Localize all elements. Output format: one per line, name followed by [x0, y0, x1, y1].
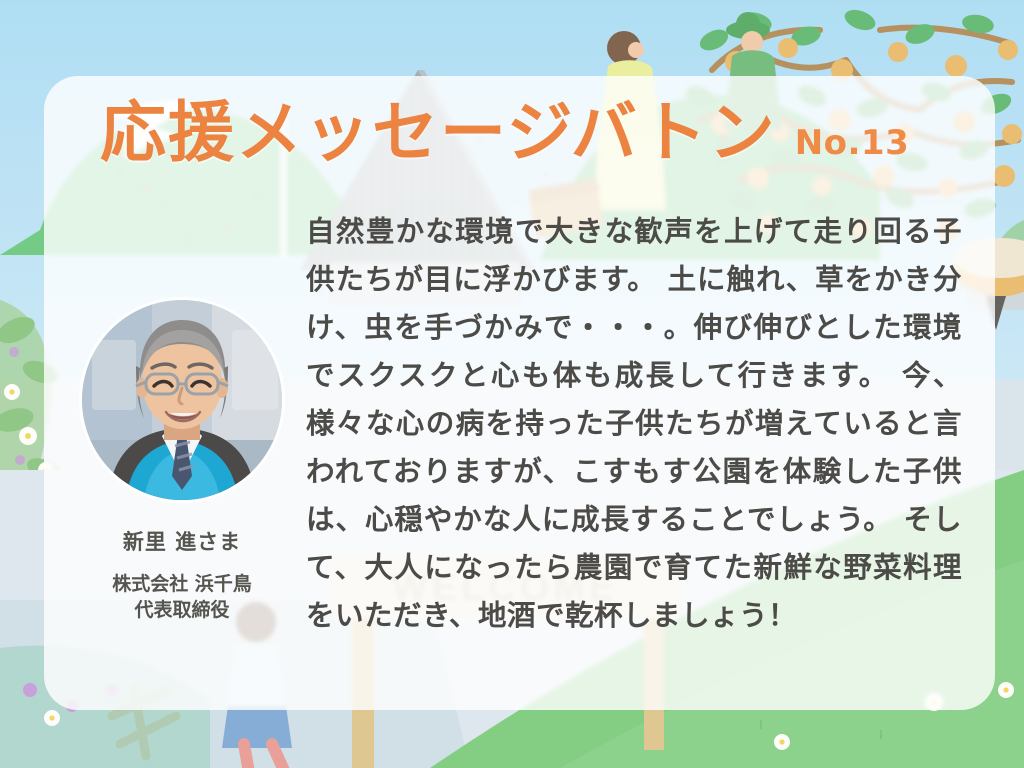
company-affiliation: 株式会社 浜千鳥 代表取締役 [112, 572, 252, 623]
message-body: 自然豊かな環境で大きな歓声を上げて走り回る子供たちが目に浮かびます。 土に触れ、… [306, 208, 962, 640]
poster-canvas: WELCOME [0, 0, 1024, 768]
company-name: 株式会社 浜千鳥 [112, 572, 252, 598]
person-name: 新里 進さま [123, 526, 241, 556]
issue-number: No.13 [795, 126, 910, 166]
card-header: 応援メッセージバトン No.13 [100, 100, 909, 166]
avatar [82, 300, 282, 500]
profile-block: 新里 進さま 株式会社 浜千鳥 代表取締役 [78, 300, 286, 623]
page-title: 応援メッセージバトン [100, 100, 777, 166]
message-text: 自然豊かな環境で大きな歓声を上げて走り回る子供たちが目に浮かびます。 土に触れ、… [306, 208, 962, 640]
company-role: 代表取締役 [112, 598, 252, 624]
